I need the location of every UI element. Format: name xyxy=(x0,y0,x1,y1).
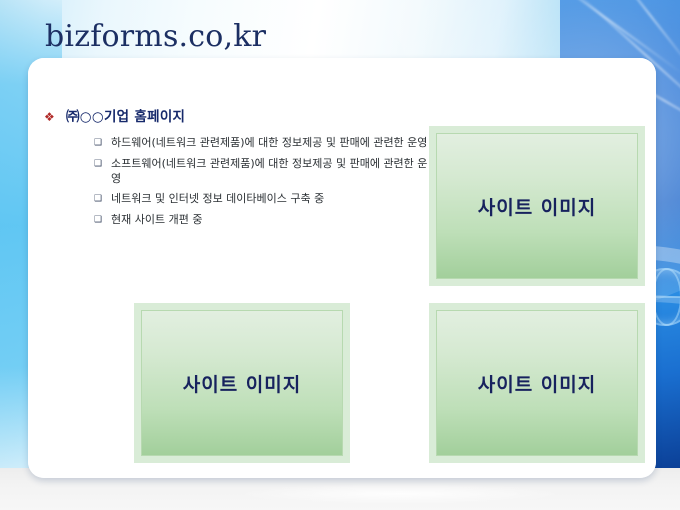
site-image-placeholder-label: 사이트 이미지 xyxy=(183,370,302,397)
list-item: ❑ 하드웨어(네트워크 관련제품)에 대한 정보제공 및 판매에 관련한 운영 xyxy=(94,135,440,151)
background-bottom-sheen xyxy=(240,484,560,504)
slide-title: bizforms.co,kr xyxy=(45,20,266,54)
square-bullet-icon: ❑ xyxy=(94,135,111,151)
heading-label: ㈜○○기업 홈페이지 xyxy=(66,108,185,126)
bullet-block: ❖ ㈜○○기업 홈페이지 ❑ 하드웨어(네트워크 관련제품)에 대한 정보제공 … xyxy=(40,108,440,233)
site-image-placeholder-inner: 사이트 이미지 xyxy=(436,310,638,456)
list-item-label: 네트워크 및 인터넷 정보 데이타베이스 구축 중 xyxy=(111,191,324,206)
square-bullet-icon: ❑ xyxy=(94,156,111,172)
list-item: ❑ 현재 사이트 개편 중 xyxy=(94,212,440,228)
slide-canvas: bizforms.co,kr ❖ ㈜○○기업 홈페이지 ❑ 하드웨어(네트워크 … xyxy=(0,0,680,510)
list-item: ❑ 소프트웨어(네트워크 관련제품)에 대한 정보제공 및 판매에 관련한 운영 xyxy=(94,156,440,186)
site-image-placeholder-bottom-left: 사이트 이미지 xyxy=(134,303,350,463)
list-item-label: 하드웨어(네트워크 관련제품)에 대한 정보제공 및 판매에 관련한 운영 xyxy=(111,135,427,150)
square-bullet-icon: ❑ xyxy=(94,191,111,207)
site-image-placeholder-label: 사이트 이미지 xyxy=(478,370,597,397)
square-bullet-icon: ❑ xyxy=(94,212,111,228)
list-item-label: 소프트웨어(네트워크 관련제품)에 대한 정보제공 및 판매에 관련한 운영 xyxy=(111,156,433,186)
diamond-bullet-icon: ❖ xyxy=(40,108,66,126)
site-image-placeholder-top-right: 사이트 이미지 xyxy=(429,126,645,286)
heading-row: ❖ ㈜○○기업 홈페이지 xyxy=(40,108,440,126)
sub-bullet-list: ❑ 하드웨어(네트워크 관련제품)에 대한 정보제공 및 판매에 관련한 운영 … xyxy=(40,135,440,228)
list-item-label: 현재 사이트 개편 중 xyxy=(111,212,202,227)
site-image-placeholder-inner: 사이트 이미지 xyxy=(436,133,638,279)
site-image-placeholder-bottom-right: 사이트 이미지 xyxy=(429,303,645,463)
site-image-placeholder-label: 사이트 이미지 xyxy=(478,193,597,220)
list-item: ❑ 네트워크 및 인터넷 정보 데이타베이스 구축 중 xyxy=(94,191,440,207)
site-image-placeholder-inner: 사이트 이미지 xyxy=(141,310,343,456)
